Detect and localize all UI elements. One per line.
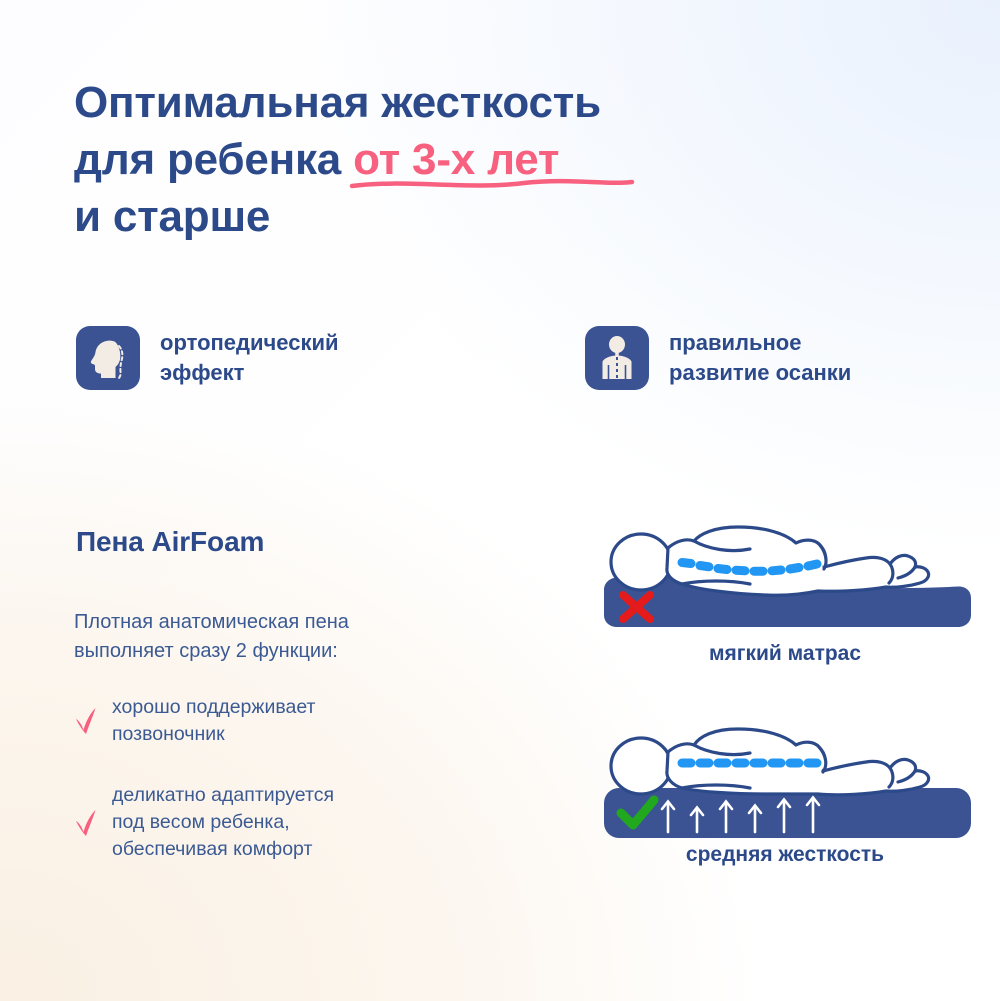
feature-label: правильное развитие осанки [669,328,851,388]
feature-badge [76,326,140,390]
foam-title: Пена AirFoam [76,526,264,558]
list-item-label: деликатно адаптируется под весом ребенка… [112,782,334,863]
illustration-caption: средняя жесткость [590,843,980,867]
body-outline [611,527,929,595]
promo-card: Оптимальная жесткость для ребенка от 3-х… [0,0,1000,1001]
page-title: Оптимальная жесткость для ребенка от 3-х… [74,74,834,245]
posture-torso-icon [597,336,637,380]
pink-check-icon [74,706,98,736]
illustration-caption: мягкий матрас [590,642,980,666]
foam-description: Плотная анатомическая пена выполняет сра… [74,608,474,666]
illustration-medium-firm-mattress [590,722,980,847]
list-item: хорошо поддерживает позвоночник [74,694,474,748]
title-line-2-prefix: для ребенка [74,135,353,184]
title-line-1: Оптимальная жесткость [74,74,834,131]
title-line-3: и старше [74,188,834,245]
feature-badge [585,326,649,390]
feature-correct-posture: правильное развитие осанки [585,326,851,390]
list-item-label: хорошо поддерживает позвоночник [112,694,315,748]
illustration-soft-mattress [590,512,980,637]
title-line-2: для ребенка от 3-х лет [74,131,834,188]
title-accent-wrap: от 3-х лет [353,131,559,188]
foam-benefit-list: хорошо поддерживает позвоночник деликатн… [74,694,474,897]
head-profile-icon [88,337,128,379]
underline-squiggle-icon [349,177,635,191]
feature-orthopedic-effect: ортопедический эффект [76,326,339,390]
feature-label: ортопедический эффект [160,328,339,388]
pink-check-icon [74,808,98,838]
list-item: деликатно адаптируется под весом ребенка… [74,782,474,863]
